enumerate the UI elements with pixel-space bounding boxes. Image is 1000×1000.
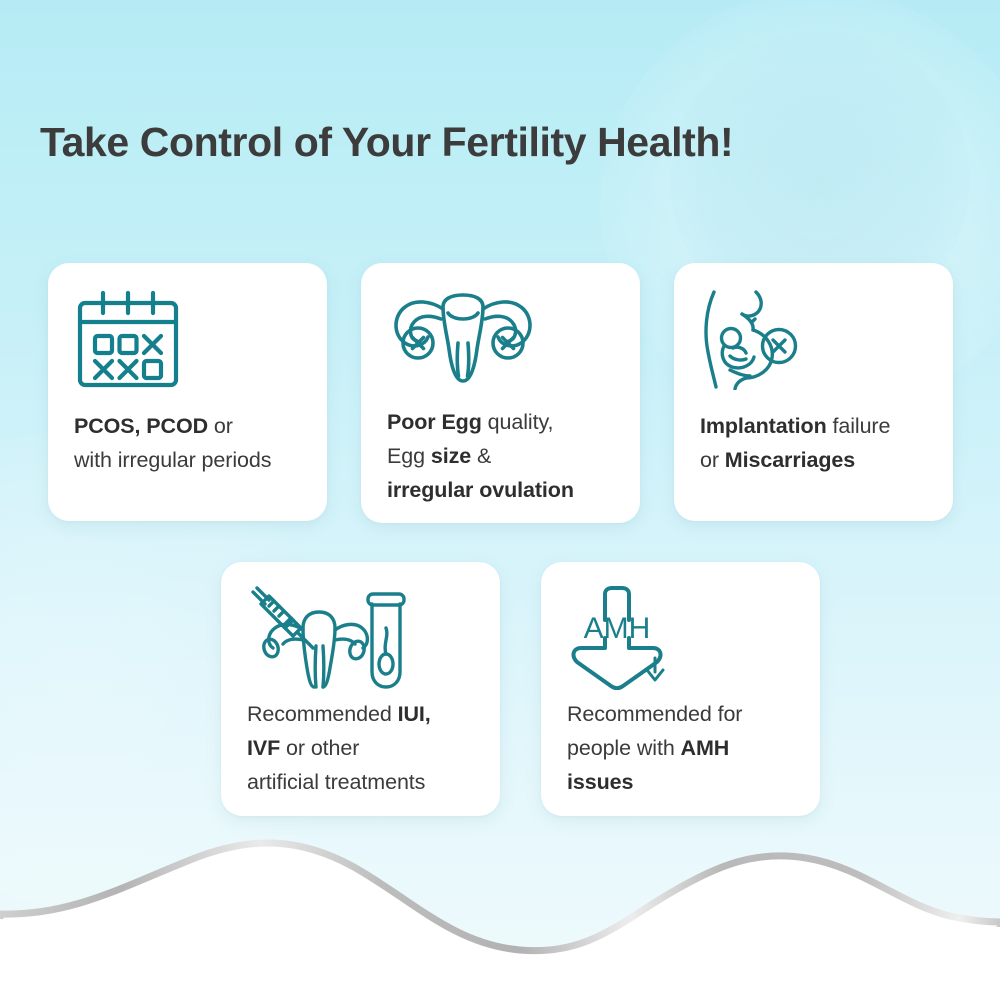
card-pcos-pcod-text: PCOS, PCOD orwith irregular periods (74, 409, 313, 477)
card-iui-ivf-treatments-text: Recommended IUI,IVF or otherartificial t… (247, 697, 486, 799)
amh-icon-label: AMH (584, 612, 651, 645)
card-amh-issues-text: Recommended forpeople with AMHissues (567, 697, 806, 799)
page-title: Take Control of Your Fertility Health! (40, 119, 960, 166)
card-poor-egg-quality[interactable]: Poor Egg quality,Egg size &irregular ovu… (361, 263, 640, 523)
syringe-uterus-testtube-icon (247, 588, 417, 688)
amh-down-arrow-icon: AMH (567, 588, 737, 688)
card-amh-issues[interactable]: AMH Recommended forpeople with AMHissues (541, 562, 820, 816)
card-implantation-failure[interactable]: Implantation failureor Miscarriages (674, 263, 953, 521)
uterus-ovaries-cross-icon (387, 289, 557, 389)
calendar-irregular-periods-icon (74, 289, 244, 389)
card-implantation-failure-text: Implantation failureor Miscarriages (700, 409, 945, 477)
card-poor-egg-quality-text: Poor Egg quality,Egg size &irregular ovu… (387, 405, 626, 507)
pregnant-belly-cross-icon (700, 289, 870, 389)
card-iui-ivf-treatments[interactable]: Recommended IUI,IVF or otherartificial t… (221, 562, 500, 816)
poster-canvas: Take Control of Your Fertility Health! P… (0, 0, 1000, 1000)
bottom-wave-decoration (0, 810, 1000, 1000)
card-pcos-pcod[interactable]: PCOS, PCOD orwith irregular periods (48, 263, 327, 521)
